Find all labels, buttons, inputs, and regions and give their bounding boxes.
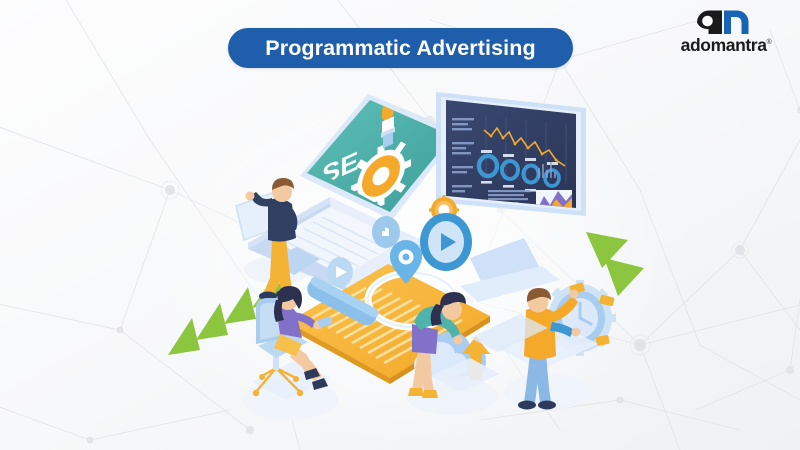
brand-name: adomantra	[681, 35, 767, 55]
thumb-badge-icon	[372, 216, 400, 248]
media-badge-icon	[327, 257, 353, 287]
page-title: Programmatic Advertising	[265, 36, 535, 61]
adomantra-monogram-icon	[695, 8, 757, 34]
brand-logo[interactable]: adomantra®	[666, 8, 786, 66]
registered-mark: ®	[767, 39, 772, 46]
play-button-icon	[420, 213, 472, 271]
growth-arrow-right-icon	[586, 232, 644, 296]
desktop-dashboard	[429, 92, 586, 302]
brand-wordmark: adomantra®	[681, 37, 772, 55]
banner-canvas: SE	[0, 0, 800, 450]
page-title-badge: Programmatic Advertising	[228, 28, 573, 68]
